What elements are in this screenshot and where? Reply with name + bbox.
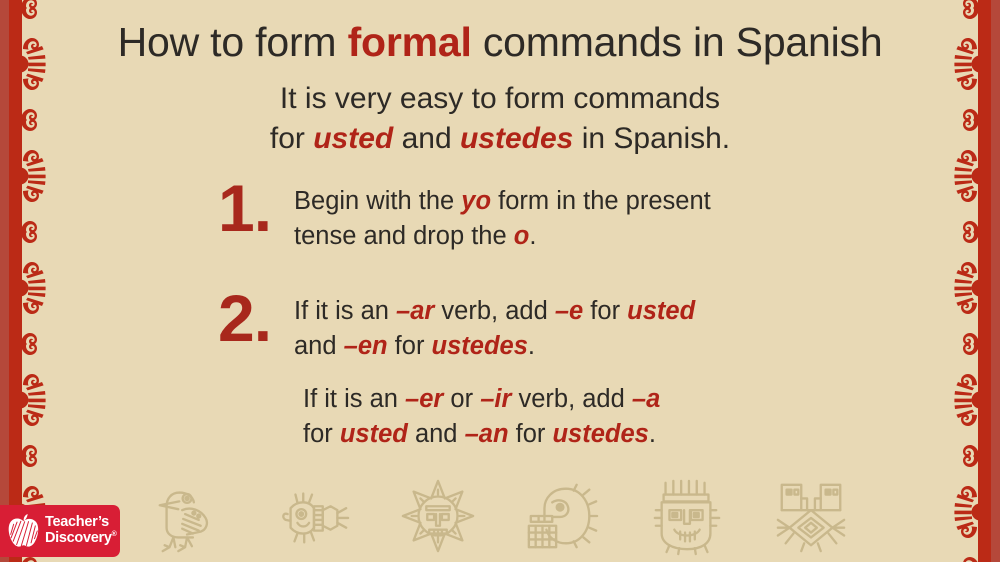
subtitle-ustedes: ustedes: [460, 122, 573, 155]
paragraph-3: If it is an –er or –ir verb, add –a for …: [303, 382, 660, 451]
logo-line-2: Discovery®: [45, 531, 116, 547]
step-2-highlight-usted: usted: [627, 297, 695, 325]
step-2-line2-part-b: for: [388, 332, 432, 360]
step-2-highlight-en: –en: [344, 332, 388, 360]
title-text-before: How to form: [118, 19, 348, 65]
step-1-line-1: Begin with the yo form in the present: [294, 184, 711, 219]
step-2-highlight-ustedes: ustedes: [432, 332, 528, 360]
aztec-mask-face-glyph: [648, 476, 726, 556]
step-1-body: Begin with the yo form in the present te…: [294, 178, 711, 253]
step-2-line1-part-a: If it is an: [294, 297, 396, 325]
apple-icon: [6, 513, 40, 549]
logo-wordmark: Teacher’s Discovery®: [45, 515, 116, 546]
right-decorative-border: [954, 0, 1000, 562]
step-1-line1-part-a: Begin with the: [294, 187, 461, 215]
step-2-line-2: and –en for ustedes.: [294, 329, 695, 364]
step-2-line-1: If it is an –ar verb, add –e for usted: [294, 294, 695, 329]
paragraph-3-line-2: for usted and –an for ustedes.: [303, 417, 660, 452]
para3-line2-part-d: .: [649, 420, 656, 448]
step-2-line2-part-a: and: [294, 332, 344, 360]
step-2-line1-part-b: verb, add: [434, 297, 555, 325]
para3-highlight-ir: –ir: [480, 385, 511, 413]
subtitle-usted: usted: [313, 122, 393, 155]
step-2-line2-part-c: .: [528, 332, 535, 360]
subtitle-line-2: for usted and ustedes in Spanish.: [60, 119, 940, 159]
subtitle-line2-part-a: for: [270, 122, 313, 155]
aztec-profile-head-glyph: [523, 476, 601, 556]
logo-line-2-text: Discovery: [45, 530, 112, 546]
step-1-highlight-o: o: [514, 222, 530, 250]
subtitle-line2-part-c: in Spanish.: [573, 122, 730, 155]
aztec-glyph-row: [150, 470, 850, 556]
para3-line1-part-c: verb, add: [511, 385, 632, 413]
step-1-line2-part-b: .: [529, 222, 536, 250]
aztec-bird-glyph: [150, 476, 228, 556]
para3-highlight-a: –a: [632, 385, 660, 413]
left-decorative-border: [0, 0, 46, 562]
para3-highlight-usted: usted: [340, 420, 408, 448]
para3-line2-part-a: for: [303, 420, 340, 448]
slide-canvas: How to form formal commands in Spanish I…: [0, 0, 1000, 562]
step-2-body: If it is an –ar verb, add –e for usted a…: [294, 288, 695, 363]
step-1-highlight-yo: yo: [461, 187, 491, 215]
logo-line-1: Teacher’s: [45, 515, 116, 531]
step-1-line2-part-a: tense and drop the: [294, 222, 514, 250]
slide-title: How to form formal commands in Spanish: [60, 20, 940, 64]
subtitle-line-1: It is very easy to form commands: [60, 79, 940, 119]
right-border-motif-pattern: [954, 0, 980, 562]
para3-highlight-an: –an: [465, 420, 509, 448]
para3-line1-part-b: or: [443, 385, 480, 413]
step-2-line1-part-c: for: [583, 297, 627, 325]
left-border-outer-stripe: [0, 0, 9, 562]
step-1-line1-part-b: form in the present: [491, 187, 711, 215]
step-2: 2. If it is an –ar verb, add –e for uste…: [218, 288, 695, 363]
para3-highlight-er: –er: [405, 385, 443, 413]
para3-line2-part-c: for: [509, 420, 553, 448]
left-border-motif-pattern: [20, 0, 46, 562]
teachers-discovery-logo[interactable]: Teacher’s Discovery®: [0, 505, 120, 557]
para3-line2-part-b: and: [408, 420, 465, 448]
subtitle-line2-part-b: and: [393, 122, 460, 155]
step-1-number: 1.: [218, 178, 294, 239]
registered-mark: ®: [112, 531, 117, 538]
aztec-geometric-figure-glyph: [772, 476, 850, 556]
step-1-line-2: tense and drop the o.: [294, 219, 711, 254]
title-highlight-formal: formal: [348, 19, 472, 65]
step-2-highlight-e: –e: [555, 297, 583, 325]
para3-line1-part-a: If it is an: [303, 385, 405, 413]
step-2-highlight-ar: –ar: [396, 297, 434, 325]
paragraph-3-line-1: If it is an –er or –ir verb, add –a: [303, 382, 660, 417]
slide-subtitle: It is very easy to form commands for ust…: [60, 79, 940, 159]
aztec-fish-glyph: [274, 476, 352, 556]
para3-highlight-ustedes: ustedes: [552, 420, 648, 448]
aztec-sun-face-glyph: [399, 476, 477, 556]
right-border-outer-stripe: [991, 0, 1000, 562]
title-text-after: commands in Spanish: [472, 19, 883, 65]
step-2-number: 2.: [218, 288, 294, 349]
step-1: 1. Begin with the yo form in the present…: [218, 178, 711, 253]
